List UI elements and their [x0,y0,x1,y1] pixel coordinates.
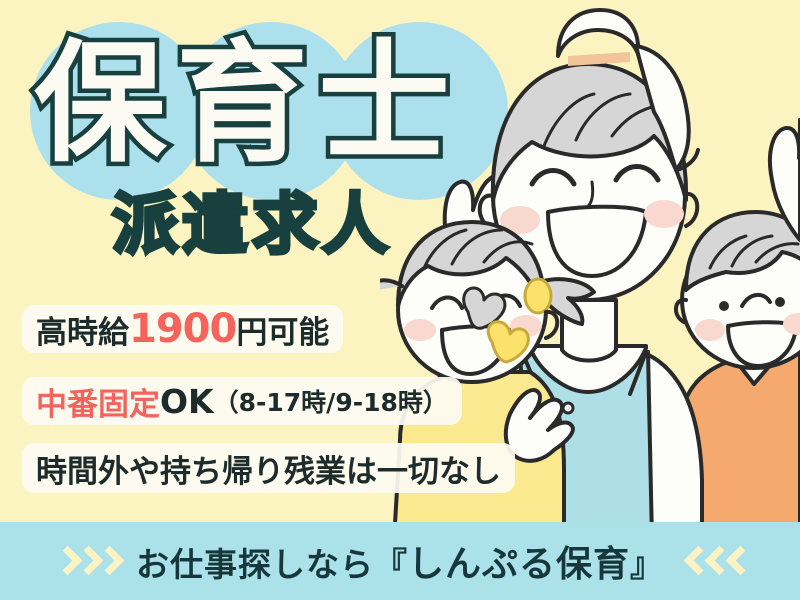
chevron-right-group [55,546,114,576]
chevron-right-icon [55,546,72,576]
banner-text: お仕事探しなら『しんぷる保育』 [136,535,664,587]
bullet-shift-ok: OK [160,382,214,421]
bullet-shift-highlight: 中番固定 [36,379,160,424]
page-title-main: 保育士 [34,24,504,184]
bottom-banner: お仕事探しなら『しんぷる保育』 [0,522,800,600]
chevron-left-group [686,546,745,576]
banner-brand: しんぷる保育 [408,544,630,585]
poster-root: 保育士 派遣求人 高時給1900円可能 中番固定OK（8-17時/9-18時） … [0,0,800,600]
chevron-left-icon [707,546,724,576]
banner-bracket-close: 』 [630,545,664,584]
chevron-left-icon [686,546,703,576]
bullet-shift-hours: （8-17時/9-18時） [214,383,448,419]
bullet-overtime: 時間外や持ち帰り残業は一切なし [22,443,515,493]
bullet-wage-part-3: 円可能 [236,307,329,352]
bullet-shift: 中番固定OK（8-17時/9-18時） [22,377,462,425]
bullet-wage: 高時給1900円可能 [22,305,343,353]
chevron-left-icon [728,546,745,576]
chevron-right-icon [97,546,114,576]
banner-bracket-open: 『 [374,545,408,584]
page-title-sub: 派遣求人 [112,192,392,258]
chevron-right-icon [76,546,93,576]
bullet-overtime-text: 時間外や持ち帰り残業は一切なし [36,446,501,491]
bullet-wage-part-1: 高時給 [36,307,129,352]
banner-lead: お仕事探しなら [136,545,374,584]
bullet-wage-amount: 1900 [129,306,236,352]
